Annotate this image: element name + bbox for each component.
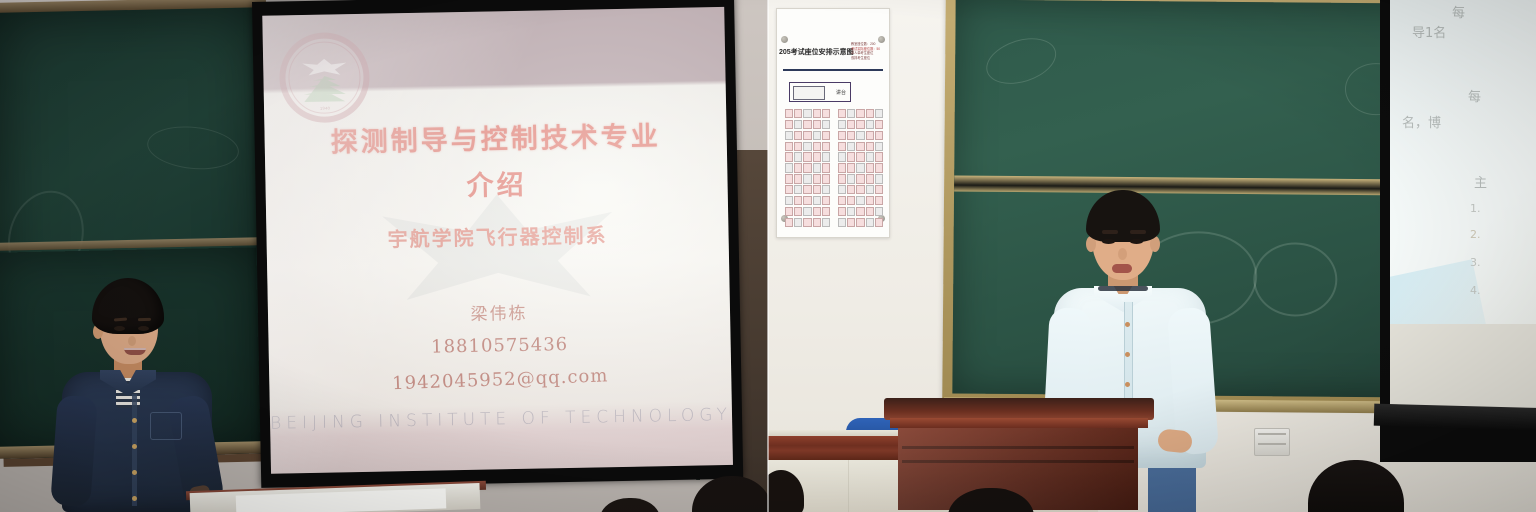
slide-list-item: 2. [1470,228,1481,241]
seat-block [838,109,883,227]
presentation-slide-right: 每 导1名 每 名，博 主 1. 2. 3. 4. [1390,0,1536,420]
shirt-button [1125,382,1130,387]
slide-text-line: 导1名 [1412,22,1446,41]
audience-head [600,498,660,512]
panel-seam [767,0,769,512]
slide-text-line: 每 [1452,2,1465,21]
shirt-placket [132,394,137,506]
collar-trim [1098,286,1148,291]
slide-text-line: 主 [1474,172,1487,191]
eye [1130,239,1143,244]
shirt-pocket [150,412,182,440]
seating-grid [785,109,883,227]
right-photo-panel: 205考试座位安排示意图 教室座位数：200 考试实际座位数：50 单人单考生座… [768,0,1536,512]
right-classroom-scene: 205考试座位安排示意图 教室座位数：200 考试实际座位数：50 单人单考生座… [768,0,1536,512]
slide-list-item: 3. [1470,256,1481,269]
left-photo-panel: 1940 探测制导与控制技术专业 介绍 宇航学院飞行器控制系 梁伟栋 18810… [0,0,768,512]
notice-podium-marker: 讲台 [789,82,851,102]
shirt-button [132,418,137,423]
slide-title-line2: 介绍 [265,159,728,207]
left-classroom-scene: 1940 探测制导与控制技术专业 介绍 宇航学院飞行器控制系 梁伟栋 18810… [0,0,768,512]
nose [1118,248,1127,260]
shirt-button [132,496,137,501]
eyebrow [1130,230,1146,234]
notice-divider [783,69,883,71]
mouth [1112,264,1132,273]
podium-top [884,398,1154,420]
hair [1086,190,1160,242]
shirt-button [132,470,137,475]
podium-label: 讲台 [836,89,846,96]
chalk-mark [145,122,241,173]
projection-screen-left: 1940 探测制导与控制技术专业 介绍 宇航学院飞行器控制系 梁伟栋 18810… [252,0,743,488]
screw-icon [781,36,788,43]
slide-title-line1: 探测制导与控制技术专业 [264,113,727,161]
slide-list-item: 4. [1470,284,1481,297]
composite-image: 1940 探测制导与控制技术专业 介绍 宇航学院飞行器控制系 梁伟栋 18810… [0,0,1536,512]
eye [114,326,125,331]
presentation-slide-left: 1940 探测制导与控制技术专业 介绍 宇航学院飞行器控制系 梁伟栋 18810… [262,7,733,474]
slide-text-line: 每 [1468,86,1481,105]
eyebrow [1102,230,1118,234]
left-presenter [40,278,230,512]
slide-list-item: 1. [1470,202,1481,215]
mouth [124,348,146,355]
slide-phone: 18810575436 [268,331,730,361]
eye [1102,239,1115,244]
jeans [1148,464,1196,512]
notice-legend: 教室座位数：200 考试实际座位数：50 单人单考生座位 双排考生座位 [851,42,887,61]
notice-title: 205考试座位安排示意图 [779,47,859,57]
slide-footer: BEIJING INSTITUTE OF TECHNOLOGY [270,405,732,434]
hair [92,278,164,334]
slide-department: 宇航学院飞行器控制系 [266,217,728,255]
logo-year: 1940 [320,106,330,111]
podium-lip [890,418,1148,428]
slide-presenter-name: 梁伟栋 [268,295,730,329]
eyebrow [138,318,151,321]
chalk-mark [1253,242,1338,317]
slide-email: 1942045952@qq.com [269,361,731,399]
projection-screen-bottom-bar [1374,404,1536,431]
legend-item: 双排考生座位 [851,56,887,61]
shirt-button [1125,352,1130,357]
shirt-button [132,444,137,449]
exam-seating-notice-board: 205考试座位安排示意图 教室座位数：200 考试实际座位数：50 单人单考生座… [776,8,890,238]
bit-logo-icon: 1940 [279,32,371,124]
wall-mounted-device [1254,428,1290,456]
slide-text-line: 名，博 [1402,112,1441,131]
shirt-button [1125,322,1130,327]
left-arm [50,395,98,508]
eye [138,326,149,331]
chalk-mark [981,30,1062,92]
nose [128,336,136,346]
projection-screen-right: 每 导1名 每 名，博 主 1. 2. 3. 4. [1380,0,1536,462]
seat-block [785,109,830,227]
